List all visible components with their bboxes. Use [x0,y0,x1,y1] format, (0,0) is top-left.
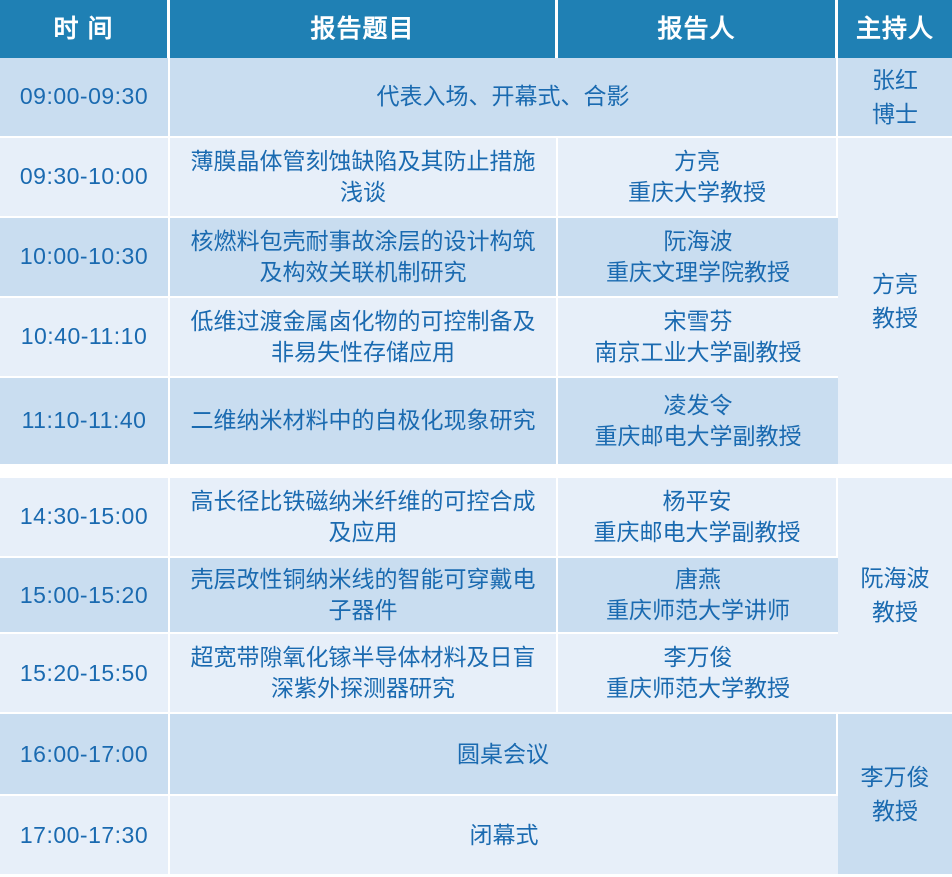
cell-speaker: 阮海波 重庆文理学院教授 [558,218,838,298]
speaker-affiliation: 重庆邮电大学副教授 [568,421,828,452]
header-row: 时 间 报告题目 报告人 主持人 [0,0,952,58]
cell-speaker: 杨平安 重庆邮电大学副教授 [558,478,838,558]
table-row: 10:40-11:10 低维过渡金属卤化物的可控制备及非易失性存储应用 宋雪芬 … [0,298,952,378]
cell-speaker: 唐燕 重庆师范大学讲师 [558,558,838,634]
cell-time: 15:00-15:20 [0,558,170,634]
table-row: 09:30-10:00 薄膜晶体管刻蚀缺陷及其防止措施浅谈 方亮 重庆大学教授 … [0,138,952,218]
cell-host: 方亮 教授 [838,138,952,466]
speaker-name: 宋雪芬 [568,306,828,337]
speaker-affiliation: 重庆大学教授 [568,177,826,208]
cell-speaker: 宋雪芬 南京工业大学副教授 [558,298,838,378]
cell-title: 圆桌会议 [170,714,838,796]
cell-title: 代表入场、开幕式、合影 [170,58,838,138]
cell-speaker: 凌发令 重庆邮电大学副教授 [558,378,838,466]
cell-host: 张红 博士 [838,58,952,138]
table-row: 15:20-15:50 超宽带隙氧化镓半导体材料及日盲深紫外探测器研究 李万俊 … [0,634,952,714]
table-row: 14:30-15:00 高长径比铁磁纳米纤维的可控合成及应用 杨平安 重庆邮电大… [0,478,952,558]
speaker-affiliation: 重庆师范大学讲师 [568,595,828,626]
table-row: 11:10-11:40 二维纳米材料中的自极化现象研究 凌发令 重庆邮电大学副教… [0,378,952,466]
schedule-table-container: 时 间 报告题目 报告人 主持人 09:00-09:30 代表入场、开幕式、合影… [0,0,952,877]
cell-time: 10:40-11:10 [0,298,170,378]
cell-time: 10:00-10:30 [0,218,170,298]
session-separator [0,466,952,478]
host-title: 教授 [844,595,946,630]
cell-title: 壳层改性铜纳米线的智能可穿戴电子器件 [170,558,558,634]
column-header-speaker: 报告人 [558,0,838,58]
session-separator-cell [558,466,838,478]
cell-host: 李万俊 教授 [838,714,952,876]
cell-title: 二维纳米材料中的自极化现象研究 [170,378,558,466]
speaker-name: 李万俊 [568,642,828,673]
table-row: 15:00-15:20 壳层改性铜纳米线的智能可穿戴电子器件 唐燕 重庆师范大学… [0,558,952,634]
table-row: 16:00-17:00 圆桌会议 李万俊 教授 [0,714,952,796]
host-name: 张红 [844,63,946,98]
speaker-affiliation: 重庆师范大学教授 [568,673,828,704]
host-title: 教授 [844,794,946,829]
host-title: 教授 [844,301,946,336]
speaker-affiliation: 南京工业大学副教授 [568,337,828,368]
cell-time: 16:00-17:00 [0,714,170,796]
conference-schedule-table: 时 间 报告题目 报告人 主持人 09:00-09:30 代表入场、开幕式、合影… [0,0,952,876]
cell-speaker: 李万俊 重庆师范大学教授 [558,634,838,714]
speaker-affiliation: 重庆邮电大学副教授 [568,517,826,548]
table-header: 时 间 报告题目 报告人 主持人 [0,0,952,58]
speaker-name: 杨平安 [568,486,826,517]
cell-title: 超宽带隙氧化镓半导体材料及日盲深紫外探测器研究 [170,634,558,714]
host-name: 方亮 [844,267,946,302]
speaker-name: 唐燕 [568,564,828,595]
speaker-name: 方亮 [568,146,826,177]
speaker-name: 凌发令 [568,390,828,421]
cell-title: 薄膜晶体管刻蚀缺陷及其防止措施浅谈 [170,138,558,218]
cell-title: 核燃料包壳耐事故涂层的设计构筑及构效关联机制研究 [170,218,558,298]
column-header-host: 主持人 [838,0,952,58]
cell-host: 阮海波 教授 [838,478,952,714]
cell-speaker: 方亮 重庆大学教授 [558,138,838,218]
cell-title: 低维过渡金属卤化物的可控制备及非易失性存储应用 [170,298,558,378]
cell-title: 高长径比铁磁纳米纤维的可控合成及应用 [170,478,558,558]
cell-time: 09:00-09:30 [0,58,170,138]
cell-time: 09:30-10:00 [0,138,170,218]
table-body: 09:00-09:30 代表入场、开幕式、合影 张红 博士 09:30-10:0… [0,58,952,876]
table-row: 09:00-09:30 代表入场、开幕式、合影 张红 博士 [0,58,952,138]
speaker-name: 阮海波 [568,226,828,257]
cell-time: 14:30-15:00 [0,478,170,558]
host-title: 博士 [844,97,946,132]
host-name: 阮海波 [844,561,946,596]
cell-time: 17:00-17:30 [0,796,170,876]
speaker-affiliation: 重庆文理学院教授 [568,257,828,288]
cell-time: 11:10-11:40 [0,378,170,466]
session-separator-cell [170,466,558,478]
column-header-time: 时 间 [0,0,170,58]
session-separator-cell [838,466,952,478]
table-row: 17:00-17:30 闭幕式 [0,796,952,876]
table-row: 10:00-10:30 核燃料包壳耐事故涂层的设计构筑及构效关联机制研究 阮海波… [0,218,952,298]
cell-time: 15:20-15:50 [0,634,170,714]
column-header-title: 报告题目 [170,0,558,58]
host-name: 李万俊 [844,760,946,795]
cell-title: 闭幕式 [170,796,838,876]
session-separator-cell [0,466,170,478]
